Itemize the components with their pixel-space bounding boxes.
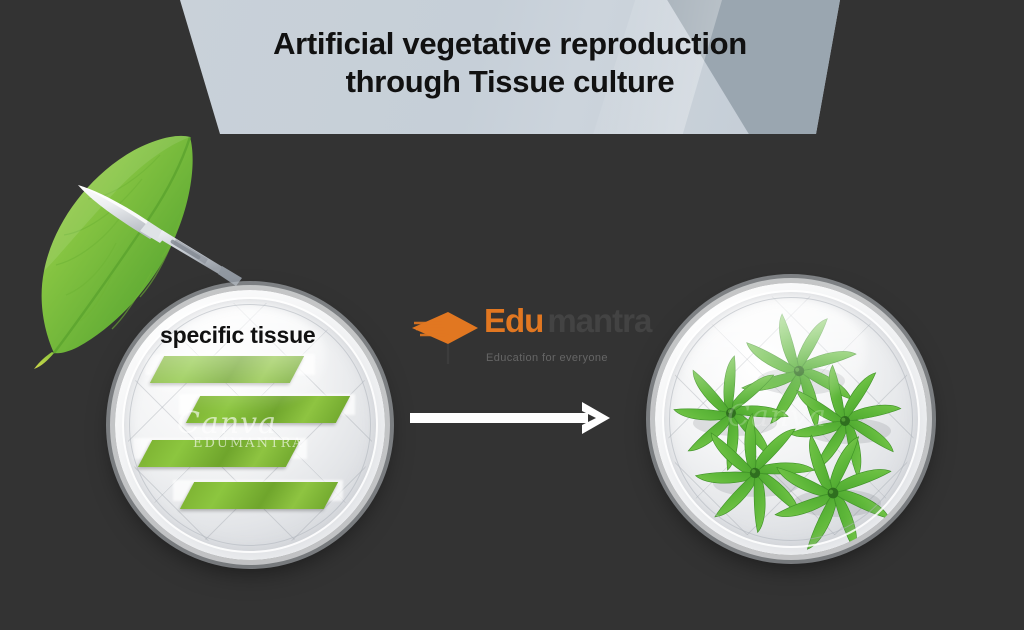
diagram-canvas: { "background_color": "#333333", "banner…: [0, 0, 1024, 630]
tissue-strip: [150, 356, 304, 383]
scalpel-icon: [76, 177, 256, 289]
plantlet-group: [655, 283, 927, 555]
petri-dish-result: Canva: [655, 283, 927, 555]
specific-tissue-label: specific tissue: [160, 322, 316, 349]
logo-word-primary: Edu: [484, 302, 543, 340]
title-line-2: through Tissue culture: [346, 64, 675, 100]
process-arrow: [410, 400, 618, 436]
tissue-strip: [186, 396, 350, 423]
tissue-strip: [138, 440, 300, 467]
edumantra-logo: Edu mantra Education for everyone: [408, 300, 638, 382]
tissue-strip: [180, 482, 338, 509]
logo-wordmark: Edu mantra: [484, 302, 651, 340]
title-line-1: Artificial vegetative reproduction: [273, 26, 747, 62]
page-title: Artificial vegetative reproduction throu…: [180, 0, 840, 134]
logo-word-secondary: mantra: [547, 302, 651, 340]
title-banner: Artificial vegetative reproduction throu…: [180, 0, 840, 134]
logo-tagline: Education for everyone: [486, 352, 608, 364]
graduation-cap-icon: [408, 306, 482, 366]
